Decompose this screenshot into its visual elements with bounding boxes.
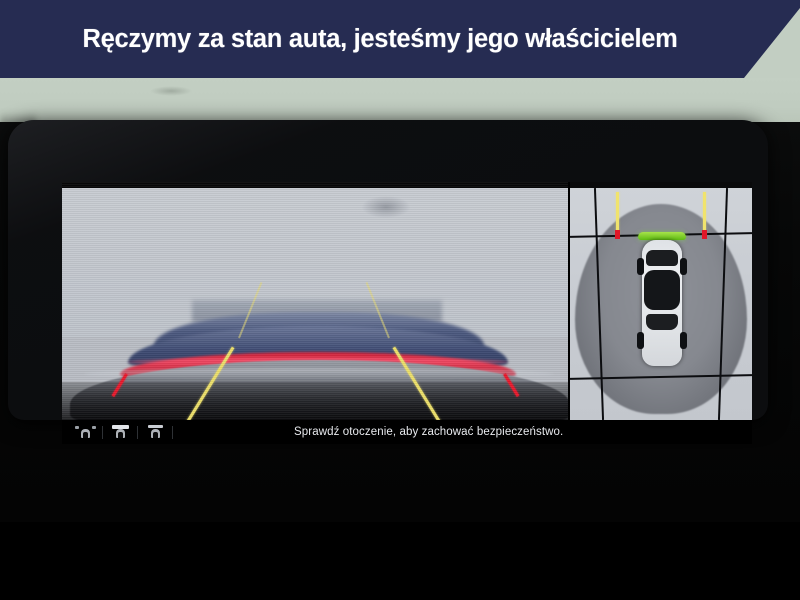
- camera-mode-rear-icon[interactable]: [68, 420, 102, 444]
- infotainment-screen[interactable]: Sprawdź otoczenie, aby zachować bezpiecz…: [62, 182, 752, 444]
- head-unit-bezel: Sprawdź otoczenie, aby zachować bezpiecz…: [8, 120, 768, 420]
- footer-bar: OTOMOTO BEZPIECZNA FIRMA 2022 AAA AUTO P…: [0, 522, 800, 600]
- bumper-shadow: [62, 382, 568, 420]
- wheel-front-right: [680, 332, 687, 349]
- bumper-edge-highlight: [84, 368, 554, 380]
- mode-divider-3: [172, 426, 173, 439]
- screenshot-root: Ręczymy za stan auta, jesteśmy jego właś…: [0, 0, 800, 600]
- surround-marker-right: [702, 230, 707, 239]
- proximity-indicator: [638, 232, 686, 240]
- vehicle-photo: Sprawdź otoczenie, aby zachować bezpiecz…: [0, 78, 800, 522]
- camera-mode-switcher[interactable]: [68, 420, 173, 444]
- rear-camera-view[interactable]: [62, 182, 568, 420]
- surround-view-panel[interactable]: [570, 182, 752, 420]
- wheel-front-left: [637, 332, 644, 349]
- banner-headline: Ręczymy za stan auta, jesteśmy jego właś…: [0, 0, 760, 78]
- wheel-rear-right: [680, 258, 687, 275]
- camera-top-letterbox: [62, 182, 568, 188]
- camera-status-bar: Sprawdź otoczenie, aby zachować bezpiecz…: [62, 420, 752, 444]
- lens-smudge: [362, 196, 410, 218]
- camera-mode-wide-icon[interactable]: [138, 420, 172, 444]
- vehicle-roof: [644, 270, 680, 310]
- rear-window: [646, 250, 678, 266]
- vehicle-top-view-icon: [642, 240, 682, 366]
- surround-marker-left: [615, 230, 620, 239]
- surround-top-letterbox: [570, 182, 752, 188]
- safety-warning-text: Sprawdź otoczenie, aby zachować bezpiecz…: [294, 420, 563, 444]
- wall-smudge: [150, 86, 192, 96]
- promo-banner: Ręczymy za stan auta, jesteśmy jego właś…: [0, 0, 800, 78]
- windshield: [646, 314, 678, 330]
- wheel-rear-left: [637, 258, 644, 275]
- camera-mode-top-icon[interactable]: [103, 420, 137, 444]
